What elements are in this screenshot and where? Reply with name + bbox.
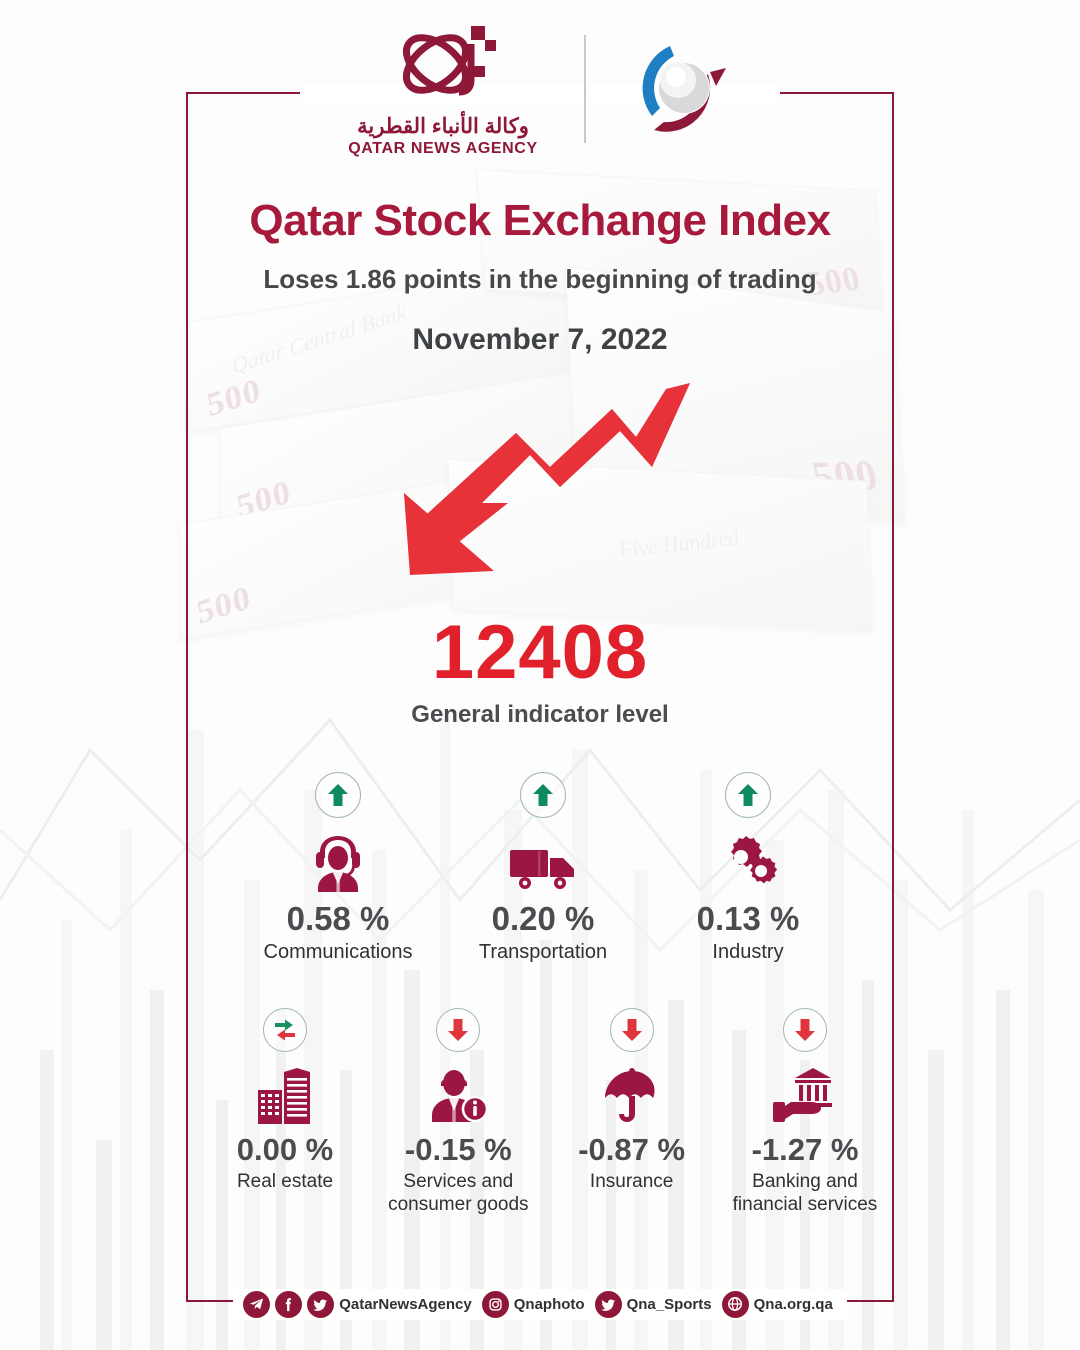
sector-banking-financial-services[interactable]: -1.27 % Banking and financial services bbox=[725, 1008, 885, 1216]
sector-row-decliners: 0.00 % Real estate bbox=[205, 1008, 885, 1216]
trend-badge-down bbox=[783, 1008, 827, 1052]
sector-name: Communications bbox=[264, 940, 413, 964]
social-handle[interactable]: QatarNewsAgency bbox=[339, 1296, 472, 1313]
trend-badge-flat bbox=[263, 1008, 307, 1052]
trend-badge-up bbox=[725, 772, 771, 818]
arrow-down-icon bbox=[447, 1018, 469, 1042]
instagram-icon[interactable] bbox=[482, 1291, 509, 1318]
declining-trend-arrow-icon bbox=[390, 375, 710, 615]
sector-name: Industry bbox=[712, 940, 783, 964]
logo-divider bbox=[584, 35, 586, 143]
service-agent-info-icon bbox=[428, 1062, 488, 1124]
general-index-label: General indicator level bbox=[186, 701, 894, 729]
social-handle[interactable]: Qnaphoto bbox=[514, 1296, 585, 1313]
sector-name: Banking and financial services bbox=[725, 1170, 885, 1216]
arrow-down-icon bbox=[794, 1018, 816, 1042]
page-date: November 7, 2022 bbox=[186, 323, 894, 357]
globe-icon[interactable] bbox=[722, 1291, 749, 1318]
qatar-news-agency-logo: وكالة الأنباء القطرية QATAR NEWS AGENCY bbox=[328, 20, 558, 158]
sector-name: Insurance bbox=[590, 1170, 673, 1193]
logo-header: وكالة الأنباء القطرية QATAR NEWS AGENCY bbox=[0, 20, 1080, 158]
sector-row-gainers: 0.58 % Communications bbox=[248, 772, 838, 964]
arrow-up-icon bbox=[532, 783, 554, 807]
agency-name-arabic: وكالة الأنباء القطرية bbox=[357, 114, 529, 139]
arrow-down-icon bbox=[621, 1018, 643, 1042]
index-block: 12408 General indicator level bbox=[186, 615, 894, 729]
sector-value: 0.13 % bbox=[697, 900, 800, 938]
social-group-main: QatarNewsAgency bbox=[243, 1291, 472, 1318]
telegram-icon[interactable] bbox=[243, 1291, 270, 1318]
gears-icon bbox=[717, 830, 779, 892]
hand-bank-icon bbox=[773, 1062, 837, 1124]
sector-value: 0.58 % bbox=[287, 900, 390, 938]
agency-name-english: QATAR NEWS AGENCY bbox=[348, 140, 537, 158]
social-footer: QatarNewsAgency Qnaphoto Qna_Sports bbox=[186, 1284, 894, 1324]
sector-industry[interactable]: 0.13 % Industry bbox=[658, 772, 838, 964]
secondary-swirl-logo bbox=[612, 30, 752, 148]
social-handle[interactable]: Qna.org.qa bbox=[754, 1296, 833, 1313]
qna-atom-icon bbox=[379, 20, 507, 112]
sector-insurance[interactable]: -0.87 % Insurance bbox=[552, 1008, 712, 1216]
umbrella-icon bbox=[602, 1062, 662, 1124]
arrow-up-icon bbox=[737, 783, 759, 807]
sector-value: 0.00 % bbox=[237, 1132, 334, 1168]
general-index-value: 12408 bbox=[186, 615, 894, 691]
sector-name: Transportation bbox=[479, 940, 607, 964]
sector-services-consumer-goods[interactable]: -0.15 % Services and consumer goods bbox=[378, 1008, 538, 1216]
social-handle[interactable]: Qna_Sports bbox=[627, 1296, 712, 1313]
customer-support-agent-icon bbox=[309, 830, 367, 892]
sector-communications[interactable]: 0.58 % Communications bbox=[248, 772, 428, 964]
trend-badge-up bbox=[520, 772, 566, 818]
facebook-icon[interactable] bbox=[275, 1291, 302, 1318]
title-block: Qatar Stock Exchange Index Loses 1.86 po… bbox=[186, 198, 894, 357]
trend-badge-down bbox=[436, 1008, 480, 1052]
arrow-up-icon bbox=[327, 783, 349, 807]
trend-badge-up bbox=[315, 772, 361, 818]
sector-value: -0.15 % bbox=[405, 1132, 512, 1168]
buildings-icon bbox=[256, 1062, 314, 1124]
sector-value: 0.20 % bbox=[492, 900, 595, 938]
page-title: Qatar Stock Exchange Index bbox=[186, 198, 894, 244]
arrows-flat-icon bbox=[272, 1017, 298, 1043]
sector-real-estate[interactable]: 0.00 % Real estate bbox=[205, 1008, 365, 1216]
sector-name: Services and consumer goods bbox=[378, 1170, 538, 1216]
twitter-icon[interactable] bbox=[595, 1291, 622, 1318]
social-group-instagram: Qnaphoto bbox=[482, 1291, 585, 1318]
sector-transportation[interactable]: 0.20 % Transportation bbox=[453, 772, 633, 964]
sector-value: -0.87 % bbox=[578, 1132, 685, 1168]
sector-value: -1.27 % bbox=[752, 1132, 859, 1168]
sector-name: Real estate bbox=[237, 1170, 333, 1193]
trend-badge-down bbox=[610, 1008, 654, 1052]
infographic-page: Qatar Central Bank 500 500 500 500 500 F… bbox=[0, 0, 1080, 1350]
social-group-website: Qna.org.qa bbox=[722, 1291, 833, 1318]
social-group-sports: Qna_Sports bbox=[595, 1291, 712, 1318]
delivery-truck-icon bbox=[509, 830, 577, 892]
page-subtitle: Loses 1.86 points in the beginning of tr… bbox=[186, 264, 894, 295]
twitter-icon[interactable] bbox=[307, 1291, 334, 1318]
